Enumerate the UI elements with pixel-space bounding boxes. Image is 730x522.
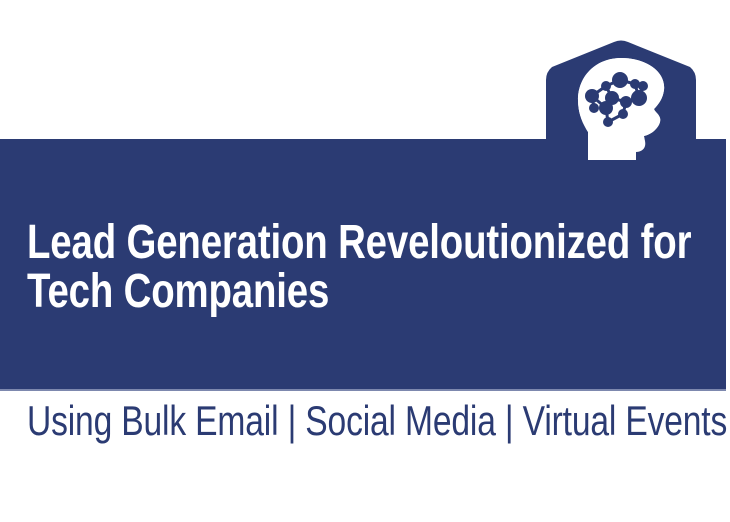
- page-subtitle: Using Bulk Email | Social Media | Virtua…: [27, 398, 717, 444]
- banner-underline: [0, 389, 726, 391]
- slide-canvas: Lead Generation Reveloutionized for Tech…: [0, 0, 730, 522]
- subtitle-text: Using Bulk Email | Social Media | Virtua…: [27, 398, 579, 444]
- title-line-1: Lead Generation Reveloutionized for: [27, 218, 568, 267]
- page-title: Lead Generation Reveloutionized for Tech…: [27, 218, 703, 316]
- title-line-2: Tech Companies: [27, 267, 568, 316]
